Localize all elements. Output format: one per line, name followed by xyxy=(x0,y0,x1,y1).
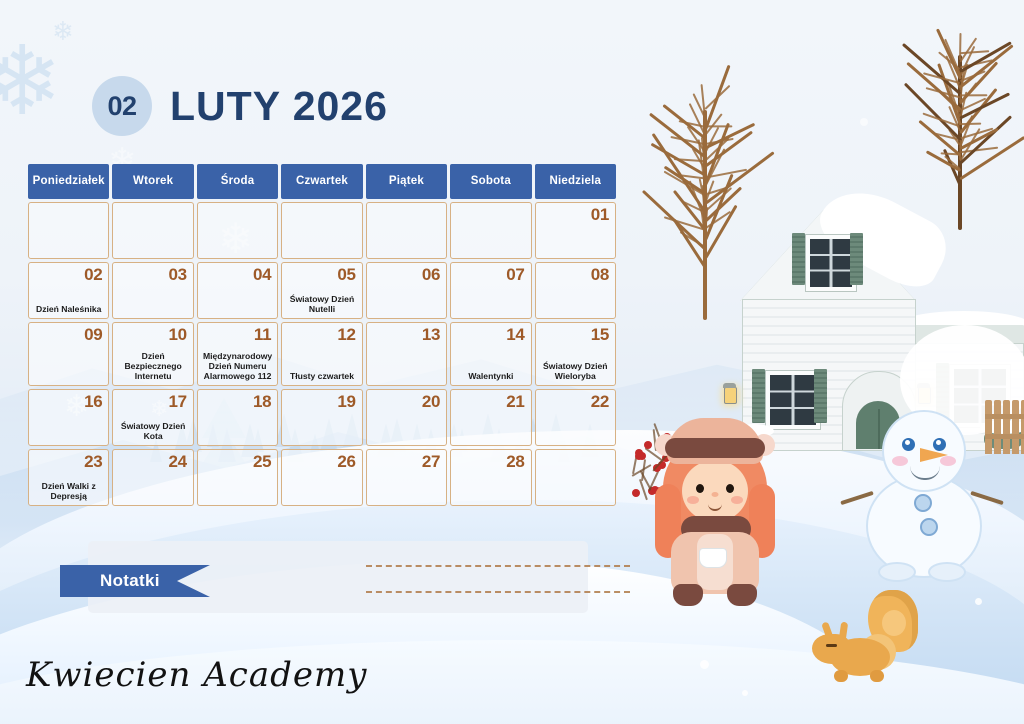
day-cell-09[interactable]: 09 xyxy=(28,322,109,386)
day-cell-28[interactable]: 28 xyxy=(450,449,531,506)
day-cell-12[interactable]: 12Tłusty czwartek xyxy=(281,322,362,386)
day-event-label: Dzień Bezpiecznego Internetu xyxy=(116,351,189,381)
day-number: 26 xyxy=(337,452,355,472)
weekday-header-2: Środa xyxy=(197,164,278,199)
day-number: 27 xyxy=(422,452,440,472)
fence-post xyxy=(1012,400,1019,454)
day-cell-18[interactable]: 18 xyxy=(197,389,278,446)
day-number: 25 xyxy=(253,452,271,472)
day-number: 23 xyxy=(84,452,102,472)
day-cell-16[interactable]: 16 xyxy=(28,389,109,446)
day-cell-19[interactable]: 19 xyxy=(281,389,362,446)
fence-rail xyxy=(985,414,1024,419)
day-number: 24 xyxy=(169,452,187,472)
snowman-icon xyxy=(862,410,982,590)
weekday-header-4: Piątek xyxy=(366,164,447,199)
day-cell-empty[interactable] xyxy=(112,202,193,259)
notes-label: Notatki xyxy=(60,571,160,591)
day-number: 18 xyxy=(253,392,271,412)
day-number: 21 xyxy=(506,392,524,412)
day-cell-03[interactable]: 03 xyxy=(112,262,193,319)
calendar-header: 02 LUTY 2026 xyxy=(92,76,388,136)
calendar-week-row: 01 xyxy=(28,202,616,259)
day-cell-11[interactable]: 11Międzynarodowy Dzień Numeru Alarmowego… xyxy=(197,322,278,386)
day-number: 13 xyxy=(422,325,440,345)
day-number: 15 xyxy=(591,325,609,345)
squirrel-icon xyxy=(808,590,924,686)
day-cell-07[interactable]: 07 xyxy=(450,262,531,319)
calendar-grid: PoniedziałekWtorekŚrodaCzwartekPiątekSob… xyxy=(28,164,616,506)
day-cell-02[interactable]: 02Dzień Naleśnika xyxy=(28,262,109,319)
calendar-week-row: 02Dzień Naleśnika030405Światowy Dzień Nu… xyxy=(28,262,616,319)
day-cell-empty[interactable] xyxy=(366,202,447,259)
day-number: 05 xyxy=(337,265,355,285)
lantern-icon xyxy=(724,387,737,404)
day-cell-15[interactable]: 15Światowy Dzień Wieloryba xyxy=(535,322,616,386)
calendar-page: ❄ ❄ ❄ ❄ ❄ ❄ xyxy=(0,0,1024,724)
day-number: 04 xyxy=(253,265,271,285)
day-event-label: Tłusty czwartek xyxy=(285,371,358,381)
day-cell-01[interactable]: 01 xyxy=(535,202,616,259)
day-cell-empty[interactable] xyxy=(535,449,616,506)
day-cell-26[interactable]: 26 xyxy=(281,449,362,506)
day-number: 06 xyxy=(422,265,440,285)
girl-icon xyxy=(655,408,775,608)
day-cell-24[interactable]: 24 xyxy=(112,449,193,506)
day-cell-06[interactable]: 06 xyxy=(366,262,447,319)
notes-line[interactable] xyxy=(366,565,630,567)
day-event-label: Walentynki xyxy=(454,371,527,381)
calendar-weeks: 0102Dzień Naleśnika030405Światowy Dzień … xyxy=(28,202,616,506)
day-number: 16 xyxy=(84,392,102,412)
day-event-label: Dzień Walki z Depresją xyxy=(32,481,105,501)
day-cell-empty[interactable] xyxy=(197,202,278,259)
calendar-week-row: 1617Światowy Dzień Kota1819202122 xyxy=(28,389,616,446)
snowflake-icon: ❄ xyxy=(0,34,62,130)
day-number: 02 xyxy=(84,265,102,285)
snow-dot xyxy=(700,660,709,669)
day-cell-27[interactable]: 27 xyxy=(366,449,447,506)
day-number: 10 xyxy=(169,325,187,345)
day-cell-13[interactable]: 13 xyxy=(366,322,447,386)
day-event-label: Światowy Dzień Nutelli xyxy=(285,294,358,314)
notes-line[interactable] xyxy=(366,591,630,593)
day-cell-17[interactable]: 17Światowy Dzień Kota xyxy=(112,389,193,446)
day-cell-10[interactable]: 10Dzień Bezpiecznego Internetu xyxy=(112,322,193,386)
day-cell-25[interactable]: 25 xyxy=(197,449,278,506)
day-cell-20[interactable]: 20 xyxy=(366,389,447,446)
day-number: 28 xyxy=(506,452,524,472)
day-event-label: Dzień Naleśnika xyxy=(32,304,105,314)
fence-icon xyxy=(985,400,1024,456)
fence-post xyxy=(1003,400,1010,454)
fence-rail xyxy=(985,434,1024,439)
day-cell-05[interactable]: 05Światowy Dzień Nutelli xyxy=(281,262,362,319)
day-number: 03 xyxy=(169,265,187,285)
day-cell-08[interactable]: 08 xyxy=(535,262,616,319)
fence-post xyxy=(994,400,1001,454)
day-number: 14 xyxy=(506,325,524,345)
day-number: 01 xyxy=(591,205,609,225)
day-number: 20 xyxy=(422,392,440,412)
weekday-header-row: PoniedziałekWtorekŚrodaCzwartekPiątekSob… xyxy=(28,164,616,199)
day-event-label: Światowy Dzień Kota xyxy=(116,421,189,441)
day-cell-23[interactable]: 23Dzień Walki z Depresją xyxy=(28,449,109,506)
carrot-nose-icon xyxy=(920,448,948,462)
fence-post xyxy=(985,400,992,454)
day-number: 17 xyxy=(169,392,187,412)
day-cell-14[interactable]: 14Walentynki xyxy=(450,322,531,386)
day-cell-04[interactable]: 04 xyxy=(197,262,278,319)
day-cell-empty[interactable] xyxy=(450,202,531,259)
weekday-header-1: Wtorek xyxy=(112,164,193,199)
day-cell-21[interactable]: 21 xyxy=(450,389,531,446)
day-number: 07 xyxy=(506,265,524,285)
day-number: 12 xyxy=(337,325,355,345)
calendar-week-row: 0910Dzień Bezpiecznego Internetu11Między… xyxy=(28,322,616,386)
snowflake-icon: ❄ xyxy=(52,18,74,44)
snow-dot xyxy=(860,118,868,126)
page-title: LUTY 2026 xyxy=(170,83,388,130)
snow-dot xyxy=(742,690,748,696)
day-number: 08 xyxy=(591,265,609,285)
brand-logo: Kwiecien Academy xyxy=(26,655,367,695)
weekday-header-0: Poniedziałek xyxy=(28,164,109,199)
weekday-header-5: Sobota xyxy=(450,164,531,199)
cup-icon xyxy=(699,548,727,568)
berry-dot xyxy=(632,489,640,497)
month-number-badge: 02 xyxy=(92,76,152,136)
day-cell-empty[interactable] xyxy=(281,202,362,259)
day-cell-empty[interactable] xyxy=(28,202,109,259)
day-number: 09 xyxy=(84,325,102,345)
day-number: 19 xyxy=(337,392,355,412)
day-event-label: Światowy Dzień Wieloryba xyxy=(539,361,612,381)
day-number: 11 xyxy=(254,325,271,345)
berry-dot xyxy=(644,441,652,449)
snow-dot xyxy=(975,598,982,605)
day-number: 22 xyxy=(591,392,609,412)
day-event-label: Międzynarodowy Dzień Numeru Alarmowego 1… xyxy=(201,351,274,381)
calendar-week-row: 23Dzień Walki z Depresją2425262728 xyxy=(28,449,616,506)
weekday-header-3: Czwartek xyxy=(281,164,362,199)
day-cell-22[interactable]: 22 xyxy=(535,389,616,446)
weekday-header-6: Niedziela xyxy=(535,164,616,199)
